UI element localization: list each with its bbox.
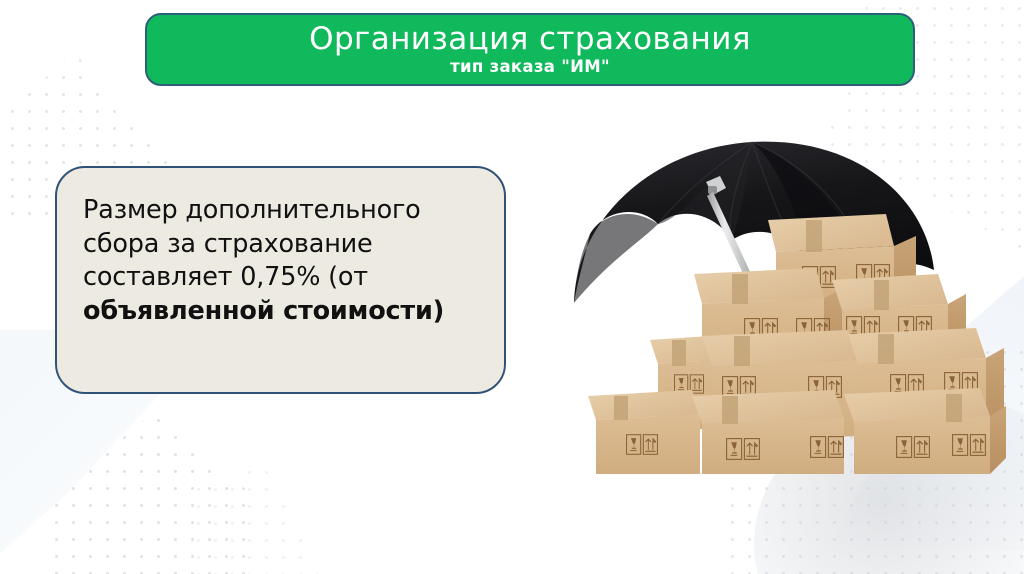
fact-line-4: объявленной стоимости) bbox=[83, 295, 482, 329]
decor-dot-grid-bottom-center bbox=[190, 464, 320, 574]
box-row4-center bbox=[692, 390, 844, 474]
box-row4-right bbox=[844, 388, 1006, 474]
cardboard-boxes bbox=[588, 214, 1006, 474]
page-subtitle: тип заказа "ИМ" bbox=[450, 57, 610, 76]
decor-dot-grid-bottom-left bbox=[48, 412, 258, 574]
fact-callout-box: Размер дополнительногосбора за страхован… bbox=[55, 166, 506, 394]
title-banner: Организация страхования тип заказа "ИМ" bbox=[145, 13, 915, 86]
illustration-umbrella-boxes bbox=[556, 108, 1024, 474]
slide-canvas: Организация страхования тип заказа "ИМ" … bbox=[0, 0, 1024, 574]
fact-callout-text: Размер дополнительногосбора за страхован… bbox=[83, 194, 482, 329]
fact-line-3: составляет 0,75% (от bbox=[83, 261, 482, 295]
fact-line-1: Размер дополнительного bbox=[83, 194, 482, 228]
fact-line-2: сбора за страхование bbox=[83, 228, 482, 262]
box-row4-left bbox=[588, 390, 700, 474]
page-title: Организация страхования bbox=[309, 23, 751, 55]
